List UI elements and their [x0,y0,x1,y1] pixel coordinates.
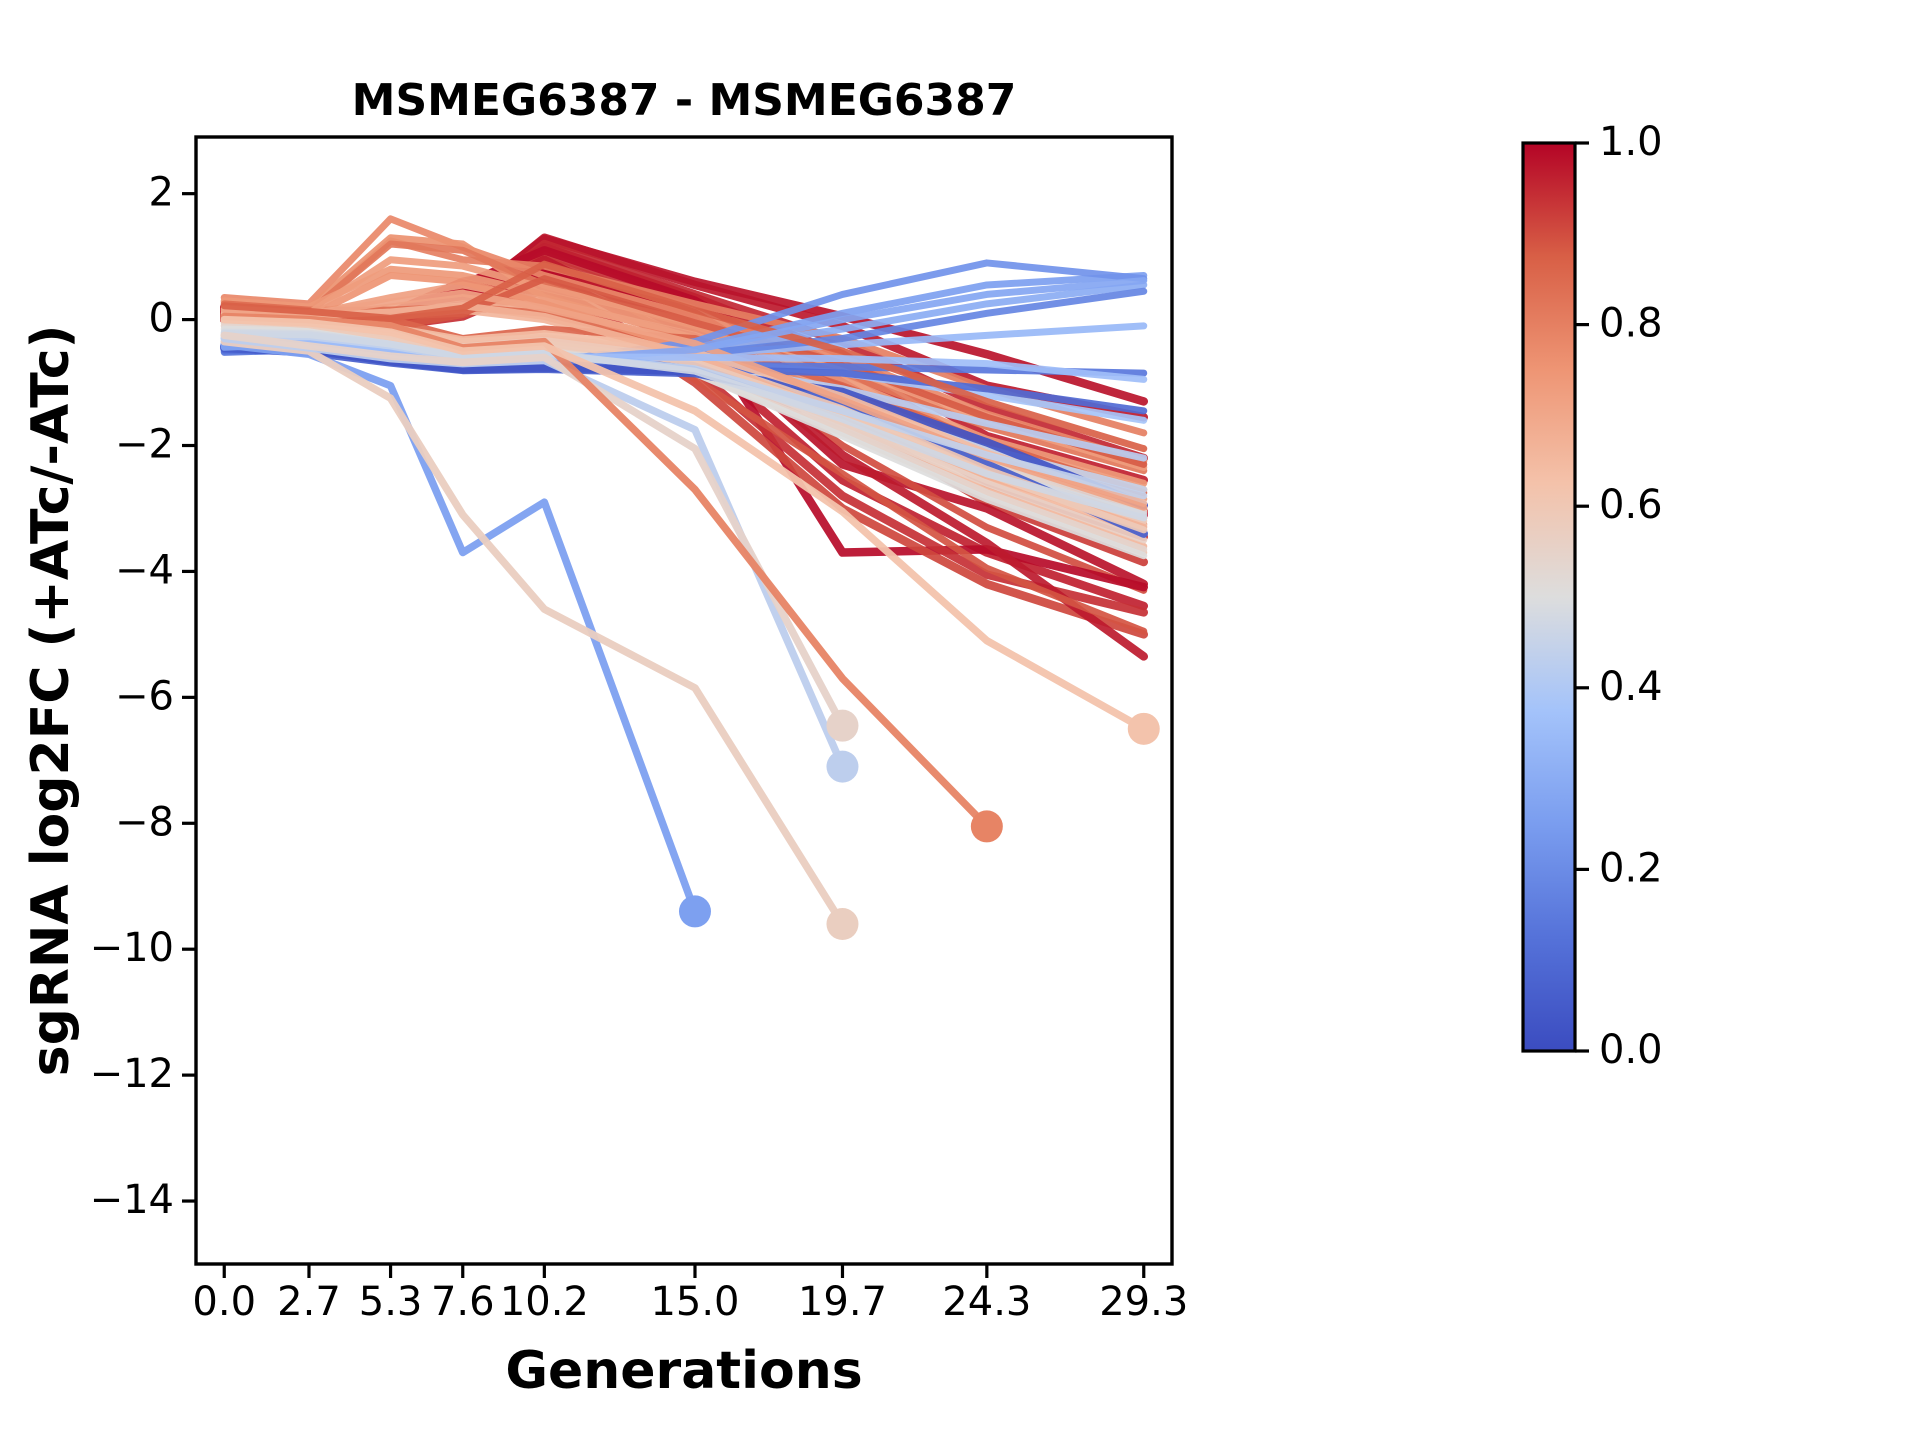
y-tick-label: −14 [90,1177,174,1223]
y-tick-label: −10 [90,925,174,971]
x-axis-ticks: 0.02.75.37.610.215.019.724.329.3 [192,1264,1188,1325]
colorbar-tick-label: 0.0 [1599,1027,1663,1073]
y-axis-ticks: 20−2−4−6−8−10−12−14 [90,170,196,1223]
colorbar-ticks: 0.00.20.40.60.81.0 [1575,119,1663,1073]
dropout-endpoint-marker [826,908,858,940]
y-axis-label: sgRNA log2FC (+ATc/-ATc) [21,325,81,1077]
x-tick-label: 24.3 [942,1279,1031,1325]
y-tick-label: −6 [115,673,174,719]
dropout-endpoint-marker [679,895,711,927]
x-tick-label: 7.6 [431,1279,495,1325]
y-tick-label: −12 [90,1051,174,1097]
x-tick-label: 29.3 [1099,1279,1188,1325]
x-tick-label: 5.3 [359,1279,423,1325]
y-tick-label: −4 [115,547,174,593]
y-tick-label: 2 [149,170,174,216]
y-tick-label: −2 [115,422,174,468]
colorbar-tick-label: 0.8 [1599,301,1663,347]
x-tick-label: 0.0 [192,1279,256,1325]
colorbar-tick-label: 0.6 [1599,482,1663,528]
y-tick-label: −8 [115,799,174,845]
x-tick-label: 19.7 [798,1279,887,1325]
figure-container: 0.02.75.37.610.215.019.724.329.3 20−2−4−… [0,0,1920,1440]
x-axis-label: Generations [505,1341,862,1401]
x-tick-label: 10.2 [500,1279,589,1325]
colorbar-tick-label: 0.2 [1599,845,1663,891]
dropout-endpoint-marker [826,710,858,742]
line-chart: 0.02.75.37.610.215.019.724.329.3 20−2−4−… [0,0,1920,1440]
dropout-endpoint-marker [1128,713,1160,745]
plot-title: MSMEG6387 - MSMEG6387 [352,75,1017,126]
x-tick-label: 15.0 [650,1279,739,1325]
dropout-endpoint-marker [971,810,1003,842]
x-tick-label: 2.7 [277,1279,341,1325]
dropout-endpoint-marker [826,751,858,783]
colorbar-tick-label: 0.4 [1599,664,1663,710]
colorbar-tick-label: 1.0 [1599,119,1663,165]
y-tick-label: 0 [149,296,174,342]
colorbar-gradient [1523,143,1575,1051]
